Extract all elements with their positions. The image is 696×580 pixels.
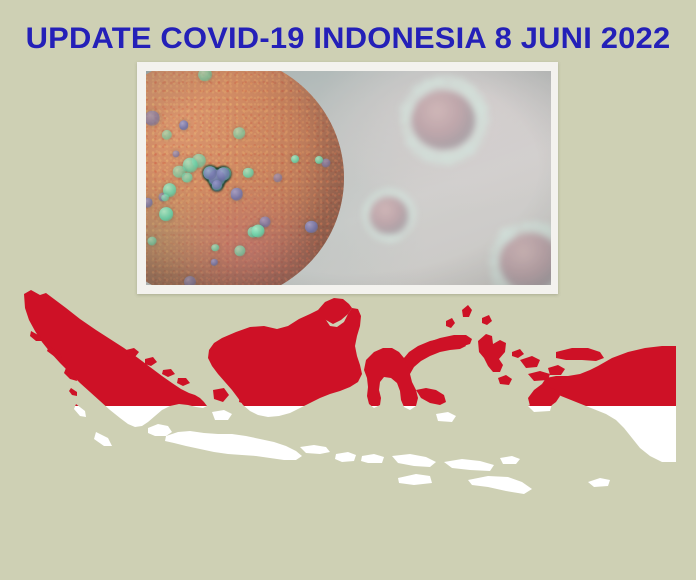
surface-spike-blob: [233, 127, 245, 139]
indonesia-flag-map: [0, 286, 696, 580]
map-flag-red-region: [24, 290, 676, 494]
spike-lobe: [364, 219, 370, 225]
coronavirus-microscopy-photo: [146, 71, 551, 285]
spike-lobe: [400, 115, 411, 125]
spike-lobe: [402, 126, 413, 136]
virion-shading: [146, 71, 344, 285]
surface-spike-blob: [252, 225, 265, 238]
spike-lobe: [489, 258, 500, 268]
background-virion-2: [361, 189, 418, 243]
surface-spike-blob: [291, 155, 299, 163]
photo-frame: [137, 62, 558, 294]
spike-lobe: [217, 168, 230, 181]
spike-lobe: [407, 204, 417, 213]
surface-spike-blob: [159, 207, 173, 221]
surface-spike-blob: [184, 276, 196, 285]
spike-lobe: [405, 135, 419, 148]
foreground-virion: [146, 71, 344, 285]
surface-spike-blob: [146, 198, 153, 209]
spike-lobe: [510, 224, 521, 234]
indonesia-map-svg: [0, 286, 696, 580]
spike-lobe: [212, 180, 222, 190]
virion-core: [370, 197, 409, 233]
background-virion-1: [397, 77, 490, 163]
surface-spike-blob: [173, 165, 186, 178]
poster-canvas: UPDATE COVID-19 INDONESIA 8 JUNI 2022: [0, 0, 696, 580]
spike-lobe: [370, 229, 378, 236]
surface-spike-blob: [173, 150, 180, 157]
spike-lobe: [521, 222, 531, 231]
surface-spike-blob: [315, 156, 323, 164]
page-title: UPDATE COVID-19 INDONESIA 8 JUNI 2022: [0, 22, 696, 56]
virion-core: [500, 234, 551, 285]
surface-spike-blob: [146, 111, 160, 126]
spike-lobe: [204, 167, 217, 180]
surface-spike-blob: [230, 188, 243, 201]
surface-spike-blob: [148, 236, 157, 245]
surface-spike-blob: [162, 194, 170, 202]
